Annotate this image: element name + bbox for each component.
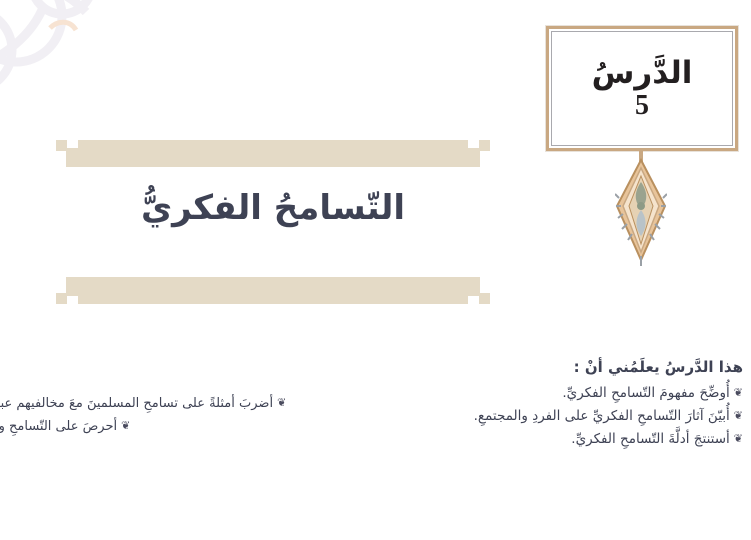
objective-text: أُوضِّحَ مفهومَ التّسامحِ الفكريِّ. — [562, 385, 729, 401]
diamond-ornament-pendant-icon — [615, 148, 667, 266]
lesson-label: الدَّرسُ — [592, 57, 693, 90]
objectives-section: هذا الدَّرسُ يعلَمُني أنْ : ❦أُوضِّحَ مف… — [383, 356, 743, 450]
objective-item: ❦أستنتجَ أدلَّةَ التّسامحِ الفكريِّ. — [383, 428, 743, 451]
ribbon-tail-left-outer — [66, 277, 78, 296]
lesson-plaque-inner: الدَّرسُ 5 — [551, 31, 733, 146]
objective-item: ❦أضربَ أمثلةً على تسامحِ المسلمينَ معَ م… — [0, 392, 368, 415]
ribbon-tail-left-outer — [66, 148, 78, 167]
ribbon-tail-right-inner — [479, 293, 490, 304]
bullet-icon: ❦ — [277, 393, 286, 413]
objective-item: ❦أحرصَ على التّسامحِ وأدعو إليهِ. — [0, 415, 368, 438]
arabesque-watermark-icon — [0, 0, 148, 114]
bullet-icon: ❦ — [734, 430, 743, 448]
objective-text: أُبيّنَ آثارَ التّسامحِ الفكريِّ على الف… — [474, 408, 730, 424]
ribbon-tail-left-inner — [56, 140, 67, 151]
objective-item: ❦أُبيّنَ آثارَ التّسامحِ الفكريِّ على ال… — [383, 405, 743, 428]
bullet-icon: ❦ — [734, 407, 743, 425]
lesson-number: 5 — [635, 92, 649, 120]
objective-text: أستنتجَ أدلَّةَ التّسامحِ الفكريِّ. — [571, 431, 729, 447]
ribbon-tail-left-inner — [56, 293, 67, 304]
lesson-cover-page: الدَّرسُ 5 التّسامحُ الفكريُّ — [0, 0, 751, 540]
objective-item: ❦أُوضِّحَ مفهومَ التّسامحِ الفكريِّ. — [383, 382, 743, 405]
bullet-icon: ❦ — [121, 416, 130, 436]
secondary-objectives-section: ❦أضربَ أمثلةً على تسامحِ المسلمينَ معَ م… — [0, 392, 368, 438]
objectives-heading: هذا الدَّرسُ يعلَمُني أنْ : — [383, 356, 743, 379]
page-title: التّسامحُ الفكريُّ — [78, 186, 468, 230]
title-ribbon-bottom — [78, 277, 468, 304]
bullet-icon: ❦ — [734, 384, 743, 402]
lesson-number-plaque: الدَّرسُ 5 — [546, 26, 738, 151]
objective-text: أضربَ أمثلةً على تسامحِ المسلمينَ معَ مخ… — [0, 396, 273, 411]
ribbon-tail-right-inner — [479, 140, 490, 151]
objective-text: أحرصَ على التّسامحِ وأدعو إليهِ. — [0, 419, 117, 434]
title-ribbon-top — [78, 140, 468, 167]
